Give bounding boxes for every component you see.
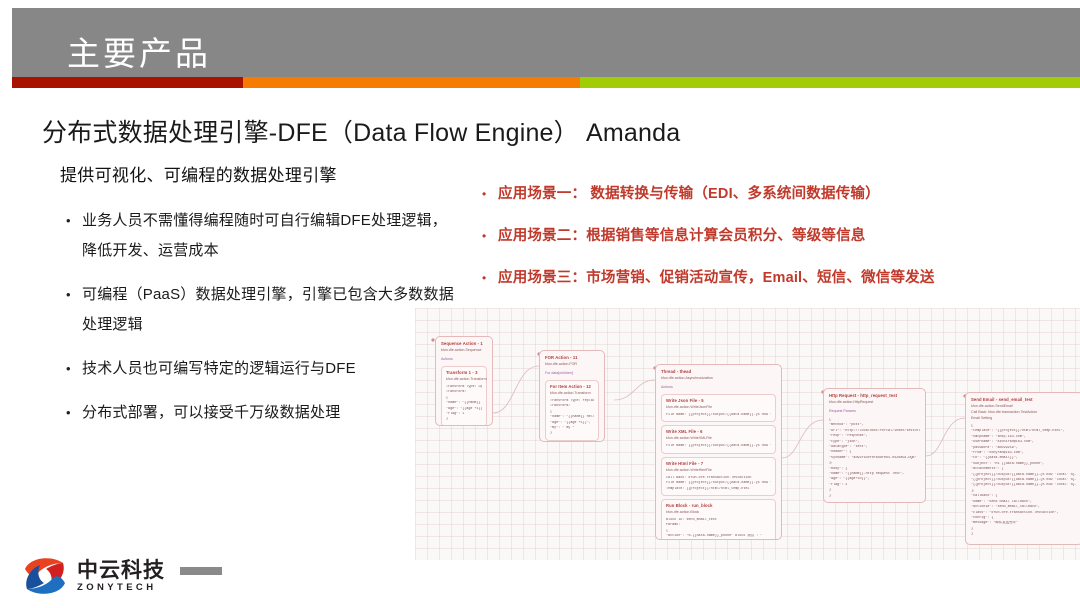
- subnode-code: File Name: {{project}}/output/{{data.nam…: [666, 413, 771, 418]
- bullet-marker-icon: •: [60, 280, 82, 310]
- header-band: 主要产品: [12, 8, 1080, 77]
- accent-segment-orange: [243, 77, 580, 88]
- node-section-label: Request Params: [829, 408, 920, 415]
- code-line: }: [829, 494, 920, 499]
- diagram-node-send-email[interactable]: Send Email - send_email_test kfun.dfe.ac…: [965, 392, 1080, 545]
- logo-swoosh-icon: [22, 554, 68, 598]
- diagram-node-sequence-action[interactable]: Sequence Action - 1 kfun.dfe.action.Sequ…: [435, 336, 493, 426]
- node-subtitle: kfun.dfe.action.FOR: [545, 361, 599, 367]
- code-line: Template: {{project}}/html/html_temp.htm…: [666, 487, 771, 492]
- list-item: • 分布式部署，可以接受千万级数据处理: [60, 398, 460, 428]
- diagram-subnode-write-xml-file[interactable]: Write XML File - 6 kfun.dfe.action.Write…: [661, 425, 776, 453]
- accent-segment-red: [12, 77, 243, 88]
- subnode-subtitle: kfun.dfe.action.Transform: [446, 376, 482, 382]
- accent-bar: [12, 77, 1080, 88]
- node-section-label: For data[children]: [545, 370, 599, 377]
- list-item: • 应用场景二：根据销售等信息计算会员积分、等级等信息: [476, 225, 1076, 247]
- slide-canvas: 主要产品 分布式数据处理引擎-DFE（Data Flow Engine） Ama…: [0, 0, 1080, 608]
- node-code: { "method": "post", "url": "http://local…: [829, 418, 920, 499]
- left-content-column: 提供可视化、可编程的数据处理引擎 • 业务人员不需懂得编程随时可自行编辑DFE处…: [60, 165, 460, 442]
- subnode-subtitle: kfun.dfe.action.Transform: [550, 390, 594, 396]
- right-content-column: • 应用场景一： 数据转换与传输（EDI、多系统间数据传输） • 应用场景二：根…: [476, 183, 1076, 309]
- list-item: • 应用场景三：市场营销、促销活动宣传，Email、短信、微信等发送: [476, 267, 1076, 289]
- logo-text: 中云科技 ZONYTECH: [77, 560, 165, 593]
- subnode-subtitle: kfun.dfe.action.WriteJsonFile: [666, 404, 771, 410]
- list-item-label: 可编程（PaaS）数据处理引擎，引擎已包含大多数数据处理逻辑: [82, 280, 460, 340]
- page-title: 主要产品: [67, 27, 211, 75]
- diagram-node-for-action[interactable]: FOR Action - 11 kfun.dfe.action.FOR For …: [539, 350, 605, 442]
- company-logo: 中云科技 ZONYTECH: [22, 554, 222, 598]
- scenario-label: 应用场景二：根据销售等信息计算会员积分、等级等信息: [498, 225, 866, 247]
- code-line: "action": "%-{{data.name}}_phone" Block …: [666, 534, 771, 539]
- list-item: • 业务人员不需懂得编程随时可自行编辑DFE处理逻辑，降低开发、运营成本: [60, 206, 460, 266]
- code-line: "sysname": "ad93f630f0fb9dfe64-0428a5d-D…: [829, 456, 920, 461]
- diagram-subnode-write-json-file[interactable]: Write Json File - 5 kfun.dfe.action.Writ…: [661, 394, 776, 422]
- code-line: File Name: {{project}}/output/{{data.nam…: [666, 444, 771, 449]
- subnode-code: Transform Type: replace Transform: { "na…: [550, 399, 594, 437]
- left-lead-text: 提供可视化、可编程的数据处理引擎: [60, 165, 460, 188]
- list-item-label: 业务人员不需懂得编程随时可自行编辑DFE处理逻辑，降低开发、运营成本: [82, 206, 460, 266]
- code-line: "name": "{{name}} Hello",: [446, 401, 482, 406]
- bullet-marker-icon: •: [60, 354, 82, 384]
- code-line: "name": "{{name}} Hello Child",: [550, 415, 594, 420]
- node-code: { "template": "{{project}}/html/html_tem…: [971, 424, 1077, 538]
- subnode-code: File Name: {{project}}/output/{{data.nam…: [666, 444, 771, 449]
- diagram-subnode-run-block[interactable]: Run Block - run_block kfun.dfe.action.Bl…: [661, 499, 776, 540]
- scenario-label: 应用场景三：市场营销、促销活动宣传，Email、短信、微信等发送: [498, 267, 935, 289]
- accent-segment-green: [580, 77, 1080, 88]
- list-item-label: 分布式部署，可以接受千万级数据处理: [82, 398, 340, 428]
- code-line: }: [550, 431, 594, 436]
- node-subtitle: kfun.dfe.action.Asynchronization: [661, 375, 776, 381]
- subnode-subtitle: kfun.dfe.action.WriteHtmlFile: [666, 467, 771, 473]
- bullet-marker-icon: •: [476, 267, 498, 289]
- list-item: • 可编程（PaaS）数据处理引擎，引擎已包含大多数数据处理逻辑: [60, 280, 460, 340]
- code-line: }: [446, 417, 482, 422]
- bullet-marker-icon: •: [60, 206, 82, 236]
- subnode-code: Transform Type: update Transform: { "nam…: [446, 385, 482, 423]
- subnode-subtitle: kfun.dfe.action.WriteXMLFile: [666, 435, 771, 441]
- code-line: "{{project}}/output/{{data.name}}-{% now…: [971, 483, 1077, 488]
- workflow-diagram: Sequence Action - 1 kfun.dfe.action.Sequ…: [415, 308, 1080, 560]
- list-item: • 技术人员也可编写特定的逻辑运行与DFE: [60, 354, 460, 384]
- node-section-label: Email Setting: [971, 415, 1077, 421]
- diagram-node-thread[interactable]: Thread - thead kfun.dfe.action.Asynchron…: [655, 364, 782, 540]
- subnode-subtitle: kfun.dfe.action.Block: [666, 509, 771, 515]
- scenario-label: 应用场景一： 数据转换与传输（EDI、多系统间数据传输）: [498, 183, 880, 205]
- code-line: File Name: {{project}}/output/{{data.nam…: [666, 481, 771, 486]
- list-item-label: 技术人员也可编写特定的逻辑运行与DFE: [82, 354, 356, 384]
- bullet-marker-icon: •: [476, 183, 498, 205]
- diagram-subnode-write-html-file[interactable]: Write Html File - 7 kfun.dfe.action.Writ…: [661, 457, 776, 496]
- logo-name-en: ZONYTECH: [77, 583, 165, 593]
- subnode-code: Block ID: send_email_test Params: { "act…: [666, 518, 771, 540]
- logo-name-cn: 中云科技: [77, 560, 165, 581]
- bullet-marker-icon: •: [60, 398, 82, 428]
- diagram-subnode-for-item[interactable]: For Item Action - 12 kfun.dfe.action.Tra…: [545, 380, 599, 441]
- code-line: File Name: {{project}}/output/{{data.nam…: [666, 413, 771, 418]
- bullet-marker-icon: •: [476, 225, 498, 247]
- node-subtitle: kfun.dfe.action.HttpRequest: [829, 399, 920, 405]
- list-item: • 应用场景一： 数据转换与传输（EDI、多系统间数据传输）: [476, 183, 1076, 205]
- section-heading: 分布式数据处理引擎-DFE（Data Flow Engine） Amanda: [42, 113, 680, 149]
- node-section-label: Actions: [661, 384, 776, 391]
- code-line: }: [971, 532, 1077, 537]
- subnode-code: Call Back: kfun.dfe.transaction.TestActi…: [666, 476, 771, 492]
- footer-dash-decoration: [180, 567, 222, 575]
- node-subtitle: kfun.dfe.action.Sequence: [441, 347, 487, 353]
- diagram-subnode-transform[interactable]: Transform 1 - 3 kfun.dfe.action.Transfor…: [441, 366, 487, 426]
- diagram-node-http-request[interactable]: Http Request - http_request_test kfun.df…: [823, 388, 926, 503]
- node-section-label: Actions: [441, 356, 487, 363]
